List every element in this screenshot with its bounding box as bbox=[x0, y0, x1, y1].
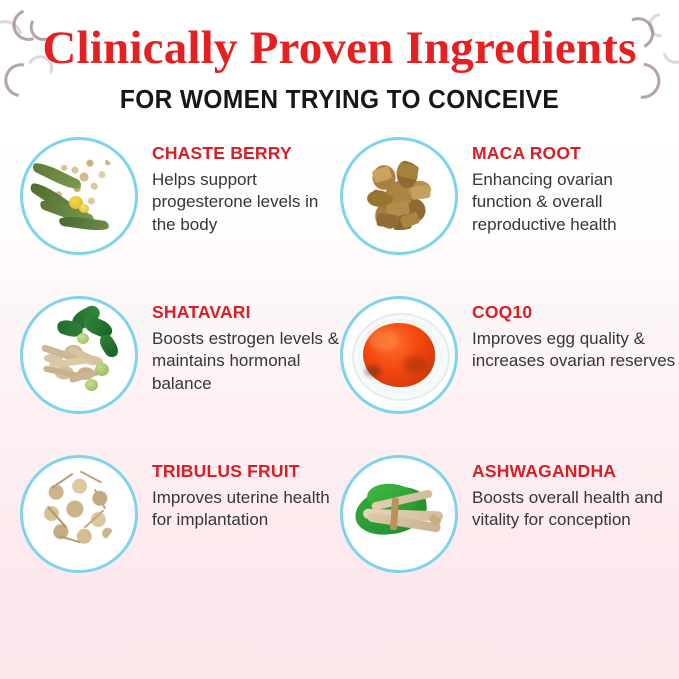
chaste-berry-icon bbox=[23, 140, 135, 252]
shatavari-thumbnail bbox=[20, 296, 138, 414]
ingredient-name: ASHWAGANDHA bbox=[472, 461, 677, 482]
maca-root-icon bbox=[343, 140, 455, 252]
shatavari-icon bbox=[23, 299, 135, 411]
ingredient-description: Enhancing ovarian function & overall rep… bbox=[472, 169, 677, 237]
page-title: Clinically Proven Ingredients bbox=[0, 24, 679, 74]
ingredient-description: Boosts estrogen levels & maintains hormo… bbox=[152, 328, 340, 396]
ingredient-name: COQ10 bbox=[472, 302, 677, 323]
ingredients-infographic: Clinically Proven Ingredients FOR WOMEN … bbox=[0, 0, 679, 679]
chaste-berry-thumbnail bbox=[20, 137, 138, 255]
ashwagandha-copy: ASHWAGANDHA Boosts overall health and vi… bbox=[472, 453, 677, 532]
coq10-powder-icon bbox=[343, 299, 455, 411]
ingredient-card-ashwagandha: ASHWAGANDHA Boosts overall health and vi… bbox=[340, 453, 679, 612]
chaste-berry-copy: CHASTE BERRY Helps support progesterone … bbox=[152, 135, 340, 237]
ingredient-card-tribulus-fruit: TRIBULUS FRUIT Improves uterine health f… bbox=[20, 453, 340, 612]
ingredient-name: SHATAVARI bbox=[152, 302, 340, 323]
ingredient-name: TRIBULUS FRUIT bbox=[152, 461, 340, 482]
tribulus-fruit-icon bbox=[23, 458, 135, 570]
ingredient-grid: CHASTE BERRY Helps support progesterone … bbox=[0, 135, 679, 612]
tribulus-fruit-thumbnail bbox=[20, 455, 138, 573]
ingredient-description: Improves egg quality & increases ovarian… bbox=[472, 328, 677, 373]
ingredient-description: Improves uterine health for implantation bbox=[152, 487, 340, 532]
coq10-copy: COQ10 Improves egg quality & increases o… bbox=[472, 294, 677, 373]
tribulus-fruit-copy: TRIBULUS FRUIT Improves uterine health f… bbox=[152, 453, 340, 532]
ingredient-card-chaste-berry: CHASTE BERRY Helps support progesterone … bbox=[20, 135, 340, 294]
header: Clinically Proven Ingredients FOR WOMEN … bbox=[0, 0, 679, 114]
ingredient-card-coq10: COQ10 Improves egg quality & increases o… bbox=[340, 294, 679, 453]
shatavari-copy: SHATAVARI Boosts estrogen levels & maint… bbox=[152, 294, 340, 396]
ashwagandha-root-icon bbox=[343, 458, 455, 570]
ingredient-card-maca-root: MACA ROOT Enhancing ovarian function & o… bbox=[340, 135, 679, 294]
coq10-thumbnail bbox=[340, 296, 458, 414]
page-subtitle: FOR WOMEN TRYING TO CONCEIVE bbox=[14, 86, 666, 114]
ingredient-name: CHASTE BERRY bbox=[152, 143, 340, 164]
ingredient-description: Boosts overall health and vitality for c… bbox=[472, 487, 677, 532]
maca-root-thumbnail bbox=[340, 137, 458, 255]
ingredient-name: MACA ROOT bbox=[472, 143, 677, 164]
maca-root-copy: MACA ROOT Enhancing ovarian function & o… bbox=[472, 135, 677, 237]
ingredient-card-shatavari: SHATAVARI Boosts estrogen levels & maint… bbox=[20, 294, 340, 453]
ingredient-description: Helps support progesterone levels in the… bbox=[152, 169, 340, 237]
ashwagandha-thumbnail bbox=[340, 455, 458, 573]
